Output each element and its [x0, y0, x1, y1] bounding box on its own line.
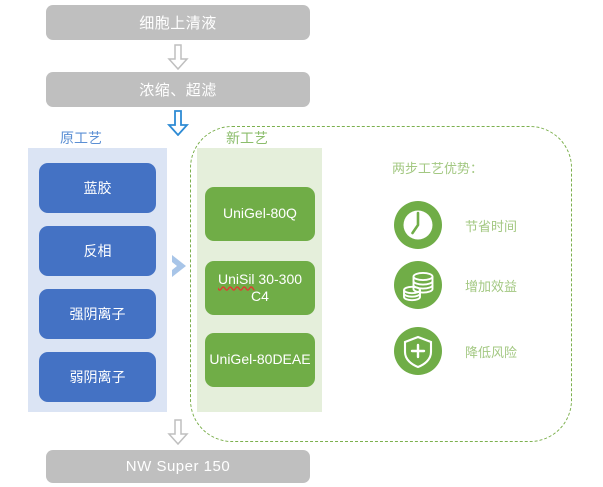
new-process-panel: UniGel-80Q UniSil 30-300 C4 UniGel-80DEA… — [197, 148, 322, 412]
old-process-step-2: 反相 — [39, 226, 156, 276]
new-process-step-2-rest: 30-300 C4 — [251, 271, 302, 305]
new-process-step-3: UniGel-80DEAE — [205, 333, 315, 387]
old-process-caption: 原工艺 — [60, 128, 102, 148]
old-process-step-3: 强阴离子 — [39, 289, 156, 339]
benefit-item-1: 节省时间 — [393, 200, 517, 250]
coins-stack-icon — [393, 260, 443, 310]
process-box-nw-super-150: NW Super 150 — [46, 450, 310, 483]
old-process-step-1: 蓝胶 — [39, 163, 156, 213]
process-box-concentrate-ultrafiltration: 浓缩、超滤 — [46, 72, 310, 107]
diagram-canvas: 细胞上清液 浓缩、超滤 原工艺 蓝胶 反相 强阴离子 弱阴离子 新工艺 UniG… — [0, 0, 603, 487]
old-process-panel: 蓝胶 反相 强阴离子 弱阴离子 — [28, 148, 167, 412]
down-arrow-icon-1 — [166, 44, 190, 70]
new-process-step-2: UniSil 30-300 C4 — [205, 261, 315, 315]
new-process-step-1: UniGel-80Q — [205, 187, 315, 241]
down-arrow-icon-3 — [166, 419, 190, 445]
benefit-label-3: 降低风险 — [465, 342, 517, 361]
clock-icon — [393, 200, 443, 250]
benefit-label-2: 增加效益 — [465, 276, 517, 295]
benefits-title: 两步工艺优势： — [392, 158, 483, 177]
chevron-right-icon — [168, 252, 192, 280]
new-process-caption: 新工艺 — [226, 128, 268, 148]
benefit-label-1: 节省时间 — [465, 216, 517, 235]
new-process-step-2-misspelled: UniSil — [218, 271, 255, 287]
benefit-item-2: 增加效益 — [393, 260, 517, 310]
benefit-item-3: 降低风险 — [393, 326, 517, 376]
old-process-step-4: 弱阴离子 — [39, 352, 156, 402]
down-arrow-icon-2 — [166, 110, 190, 136]
shield-plus-icon — [393, 326, 443, 376]
process-box-cell-supernatant: 细胞上清液 — [46, 5, 310, 40]
